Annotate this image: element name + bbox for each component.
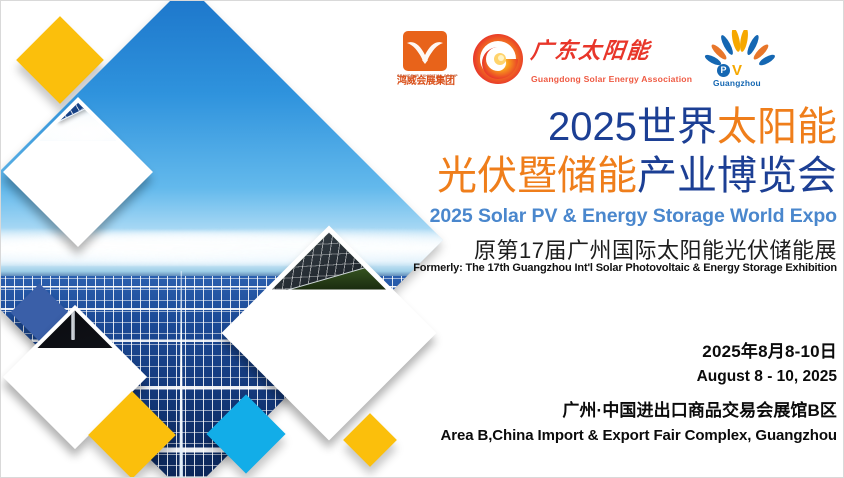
info-panel: GRANDEUR EXHIBITION GROUP 鸿威会展集团 [391,1,844,478]
page-title-line-2: 光伏暨储能产业博览会 [437,156,837,196]
title-line1-blue: 2025世界 [548,105,717,149]
yellow-diamond-bottom-right [343,413,397,467]
logo-guangdong-solar-energy-association[interactable]: 广东太阳能 Guangdong Solar Energy Association [471,30,685,88]
event-date-chinese: 2025年8月8-10日 [702,337,837,362]
title-line1-orange: 太阳能 [717,105,837,149]
title-line2-orange: 光伏暨储能 [437,154,637,198]
grandeur-chinese-label: 鸿威会展集团 [397,77,453,87]
spiral-sun-icon [471,32,525,86]
pv-letter-v: V [732,64,742,77]
gsea-english-name: Guangdong Solar Energy Association [531,74,692,84]
logo-row: GRANDEUR EXHIBITION GROUP 鸿威会展集团 [397,27,843,91]
collage-panel [1,1,421,478]
gsea-chinese-name: 广东太阳能 [529,33,652,65]
subtitle-chinese: 原第17届广州国际太阳能光伏储能展 [474,233,837,265]
title-line2-blue: 产业博览会 [637,154,837,198]
subtitle-english: Formerly: The 17th Guangzhou Int'l Solar… [413,262,837,274]
expo-poster: GRANDEUR EXHIBITION GROUP 鸿威会展集团 [0,0,844,478]
event-venue-chinese: 广州·中国进出口商品交易会展馆B区 [562,396,837,421]
pv-city-label: Guangzhou [713,78,761,88]
event-venue-english: Area B,China Import & Export Fair Comple… [440,427,837,444]
w-wings-icon [403,31,447,71]
logo-grandeur-exhibition-group[interactable]: GRANDEUR EXHIBITION GROUP 鸿威会展集团 [397,31,453,87]
pv-letter-p: P [717,64,730,77]
event-date-english: August 8 - 10, 2025 [697,368,837,386]
gsea-text-block: 广东太阳能 Guangdong Solar Energy Association [531,33,683,85]
logo-pv-guangzhou[interactable]: P V Guangzhou [703,30,777,88]
page-title-english: 2025 Solar PV & Energy Storage World Exp… [430,205,837,228]
lamp-pole [71,311,75,340]
pv-wordmark: P V [717,64,742,77]
page-title-line-1: 2025世界太阳能 [548,107,837,147]
